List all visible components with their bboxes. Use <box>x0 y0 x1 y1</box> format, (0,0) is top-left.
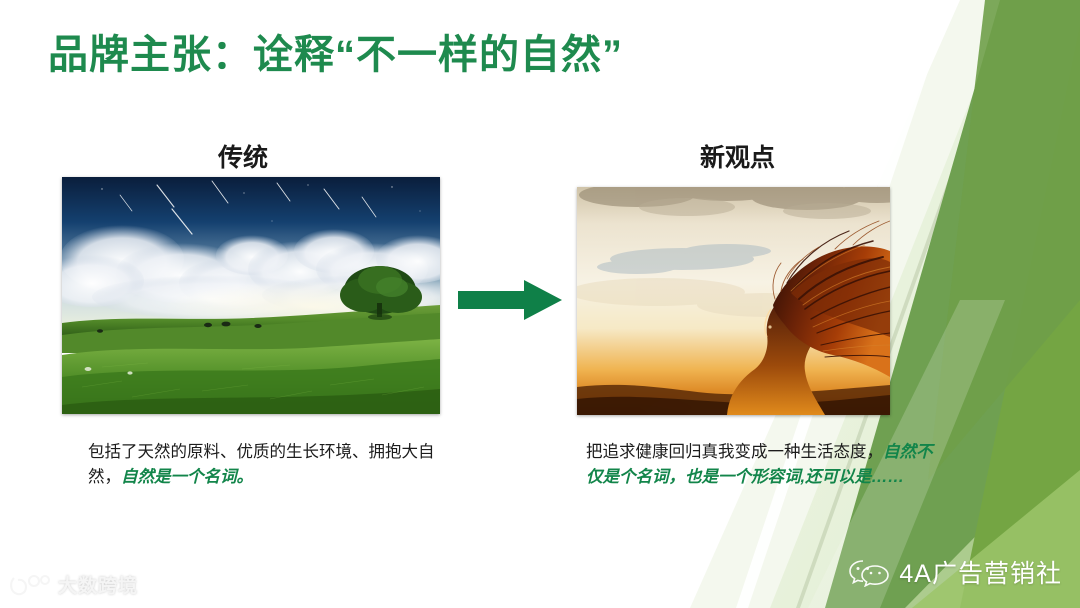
column-heading-traditional: 传统 <box>218 138 268 174</box>
dashujingjing-logo-icon <box>8 572 52 598</box>
page-title: 品牌主张：诠释“不一样的自然” <box>48 22 623 80</box>
meadow-illustration <box>62 177 440 414</box>
image-woman-silhouette-in-sunset <box>577 187 890 415</box>
wechat-icon <box>848 557 890 587</box>
sunset-silhouette-illustration <box>577 187 890 415</box>
caption-new-viewpoint: 把追求健康回归真我变成一种生活态度，自然不仅是个名词，也是一个形容词,还可以是…… <box>586 440 938 490</box>
watermark-left-text: 大数跨境 <box>58 571 138 598</box>
caption-new-viewpoint-plain: 把追求健康回归真我变成一种生活态度， <box>586 443 883 461</box>
caption-traditional-highlight: 自然是一个名词。 <box>121 468 253 486</box>
column-heading-new-viewpoint: 新观点 <box>700 138 775 174</box>
right-arrow-icon <box>458 278 562 322</box>
watermark-dashujingjing: 大数跨境 <box>8 571 138 598</box>
image-green-meadow-with-lone-tree <box>62 177 440 414</box>
watermark-4a-marketing: 4A广告营销社 <box>848 554 1062 590</box>
caption-traditional: 包括了天然的原料、优质的生长环境、拥抱大自然，自然是一个名词。 <box>88 440 438 490</box>
watermark-right-text: 4A广告营销社 <box>899 554 1062 590</box>
